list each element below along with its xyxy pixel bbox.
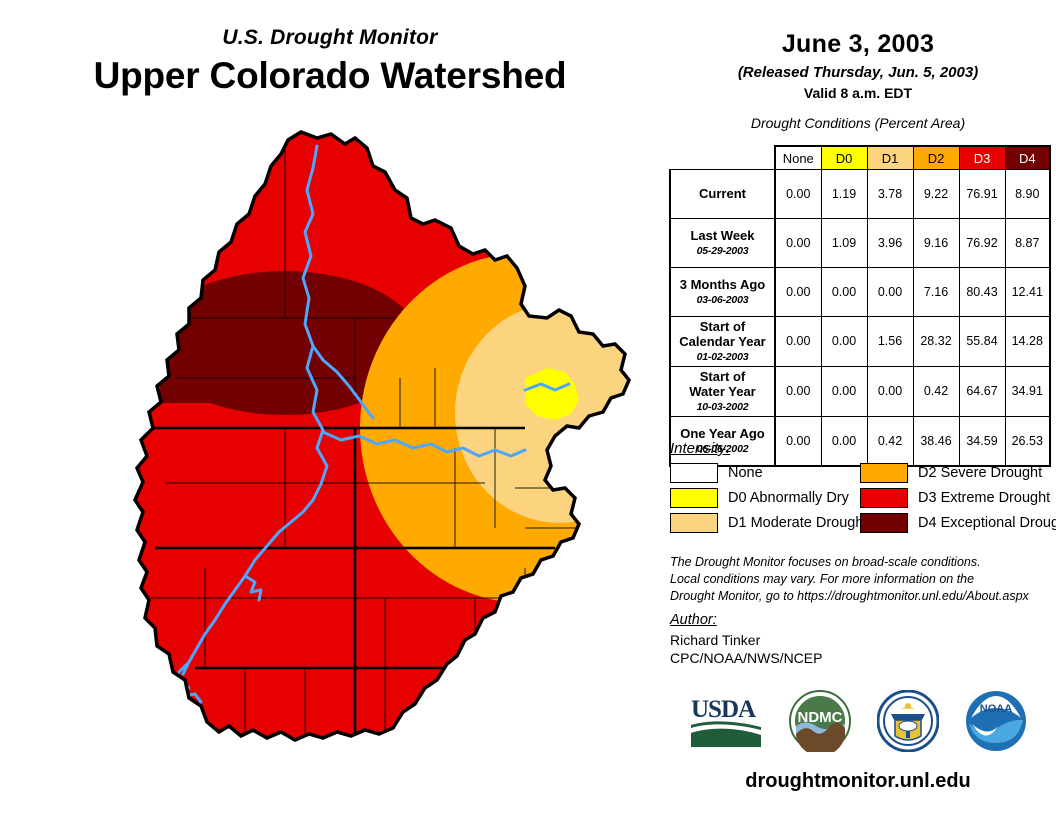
legend-item-none: None (670, 463, 860, 483)
row-label-current: Current (670, 170, 775, 219)
program-subtitle: U.S. Drought Monitor (0, 26, 660, 50)
row-label-date: 05-29-2003 (673, 245, 772, 257)
column-header-d3: D3 (959, 146, 1005, 170)
cell-d1: 3.78 (867, 170, 913, 219)
row-label-start-of-calendar-year: Start of Calendar Year 01-02-2003 (670, 317, 775, 367)
ndmc-logo[interactable]: NDMC (789, 690, 851, 757)
table-row: Current 0.00 1.19 3.78 9.22 76.91 8.90 (670, 170, 1050, 219)
map-date: June 3, 2003 (660, 30, 1056, 59)
legend-label-d2: D2 Severe Drought (918, 465, 1042, 481)
legend-title: Intensity: (670, 440, 1056, 457)
svg-text:NOAA: NOAA (980, 703, 1012, 715)
table-caption: Drought Conditions (Percent Area) (660, 115, 1056, 131)
author-heading: Author: (670, 612, 1056, 628)
cell-d4: 8.90 (1005, 170, 1050, 219)
row-label-text: Last Week (690, 228, 754, 243)
legend-label-d3: D3 Extreme Drought (918, 490, 1050, 506)
legend-item-d0: D0 Abnormally Dry (670, 488, 860, 508)
legend-label-d4: D4 Exceptional Drought (918, 515, 1056, 531)
row-label-text: One Year Ago (680, 426, 765, 441)
legend-swatch-d4 (860, 513, 908, 533)
cell-d2: 9.22 (913, 170, 959, 219)
site-url[interactable]: droughtmonitor.unl.edu (660, 770, 1056, 793)
disclaimer-line-2: Local conditions may vary. For more info… (670, 571, 1056, 588)
us-dept-commerce-seal[interactable] (877, 690, 939, 757)
legend-swatch-d1 (670, 513, 718, 533)
table-row: 3 Months Ago 03-06-2003 0.00 0.00 0.00 7… (670, 268, 1050, 317)
legend-swatch-d3 (860, 488, 908, 508)
cell-none: 0.00 (775, 170, 821, 219)
author-organization: CPC/NOAA/NWS/NCEP (670, 649, 1056, 667)
cell-d0: 0.00 (821, 366, 867, 416)
disclaimer-line-1: The Drought Monitor focuses on broad-sca… (670, 554, 1056, 571)
cell-none: 0.00 (775, 317, 821, 367)
author-block: Author: Richard Tinker CPC/NOAA/NWS/NCEP (670, 612, 1056, 667)
release-date: (Released Thursday, Jun. 5, 2003) (660, 64, 1056, 81)
cell-d0: 0.00 (821, 317, 867, 367)
cell-d2: 28.32 (913, 317, 959, 367)
partner-logos: USDA NDMC (660, 690, 1056, 757)
cell-d4: 12.41 (1005, 268, 1050, 317)
cell-d2: 9.16 (913, 219, 959, 268)
table-header-row: None D0 D1 D2 D3 D4 (670, 146, 1050, 170)
svg-text:USDA: USDA (691, 696, 756, 723)
cell-d1: 0.00 (867, 366, 913, 416)
legend-label-d0: D0 Abnormally Dry (728, 490, 849, 506)
noaa-logo[interactable]: NOAA (965, 690, 1027, 757)
column-header-d2: D2 (913, 146, 959, 170)
right-column: June 3, 2003 (Released Thursday, Jun. 5,… (660, 0, 1056, 816)
table-body: Current 0.00 1.19 3.78 9.22 76.91 8.90 L… (670, 170, 1050, 466)
disclaimer-line-3: Drought Monitor, go to https://droughtmo… (670, 588, 1056, 605)
svg-text:NDMC: NDMC (798, 709, 843, 726)
column-header-d4: D4 (1005, 146, 1050, 170)
cell-d3: 76.91 (959, 170, 1005, 219)
cell-d0: 0.00 (821, 268, 867, 317)
column-header-d1: D1 (867, 146, 913, 170)
row-label-3-months-ago: 3 Months Ago 03-06-2003 (670, 268, 775, 317)
cell-d3: 76.92 (959, 219, 1005, 268)
row-label-date: 03-06-2003 (673, 294, 772, 306)
table-corner-cell (670, 146, 775, 170)
intensity-legend: Intensity: None D2 Severe Drought D0 Abn… (670, 440, 1056, 533)
drought-conditions-table: None D0 D1 D2 D3 D4 Current 0.00 1.19 3.… (669, 145, 1049, 467)
table-row: Start of Water Year 10-03-2002 0.00 0.00… (670, 366, 1050, 416)
cell-d3: 55.84 (959, 317, 1005, 367)
legend-item-d4: D4 Exceptional Drought (860, 513, 1056, 533)
valid-time: Valid 8 a.m. EDT (660, 85, 1056, 101)
column-header-d0: D0 (821, 146, 867, 170)
cell-none: 0.00 (775, 219, 821, 268)
usda-logo[interactable]: USDA (689, 693, 763, 754)
table-row: Last Week 05-29-2003 0.00 1.09 3.96 9.16… (670, 219, 1050, 268)
cell-d3: 80.43 (959, 268, 1005, 317)
date-block: June 3, 2003 (Released Thursday, Jun. 5,… (660, 0, 1056, 131)
row-label-text: Current (699, 186, 746, 201)
cell-none: 0.00 (775, 268, 821, 317)
row-label-text: Start of Calendar Year (679, 319, 765, 349)
cell-none: 0.00 (775, 366, 821, 416)
upper-colorado-watershed-drought-map[interactable] (55, 128, 645, 768)
row-label-last-week: Last Week 05-29-2003 (670, 219, 775, 268)
page-title: Upper Colorado Watershed (0, 55, 660, 97)
legend-item-d1: D1 Moderate Drought (670, 513, 860, 533)
row-label-text: Start of Water Year (689, 369, 756, 399)
legend-swatch-none (670, 463, 718, 483)
legend-grid: None D2 Severe Drought D0 Abnormally Dry… (670, 463, 1056, 533)
cell-d4: 8.87 (1005, 219, 1050, 268)
row-label-date: 01-02-2003 (673, 351, 772, 363)
cell-d1: 3.96 (867, 219, 913, 268)
cell-d1: 0.00 (867, 268, 913, 317)
cell-d2: 7.16 (913, 268, 959, 317)
title-block: U.S. Drought Monitor Upper Colorado Wate… (0, 26, 660, 97)
column-header-none: None (775, 146, 821, 170)
row-label-text: 3 Months Ago (680, 277, 765, 292)
cell-d0: 1.19 (821, 170, 867, 219)
table-row: Start of Calendar Year 01-02-2003 0.00 0… (670, 317, 1050, 367)
cell-d0: 1.09 (821, 219, 867, 268)
author-name: Richard Tinker (670, 631, 1056, 649)
legend-item-d3: D3 Extreme Drought (860, 488, 1056, 508)
cell-d4: 14.28 (1005, 317, 1050, 367)
cell-d1: 1.56 (867, 317, 913, 367)
row-label-date: 10-03-2002 (673, 401, 772, 413)
disclaimer: The Drought Monitor focuses on broad-sca… (670, 554, 1056, 605)
cell-d2: 0.42 (913, 366, 959, 416)
cell-d4: 34.91 (1005, 366, 1050, 416)
cell-d3: 64.67 (959, 366, 1005, 416)
legend-label-d1: D1 Moderate Drought (728, 515, 867, 531)
legend-item-d2: D2 Severe Drought (860, 463, 1056, 483)
legend-swatch-d2 (860, 463, 908, 483)
row-label-start-of-water-year: Start of Water Year 10-03-2002 (670, 366, 775, 416)
legend-swatch-d0 (670, 488, 718, 508)
legend-label-none: None (728, 465, 763, 481)
